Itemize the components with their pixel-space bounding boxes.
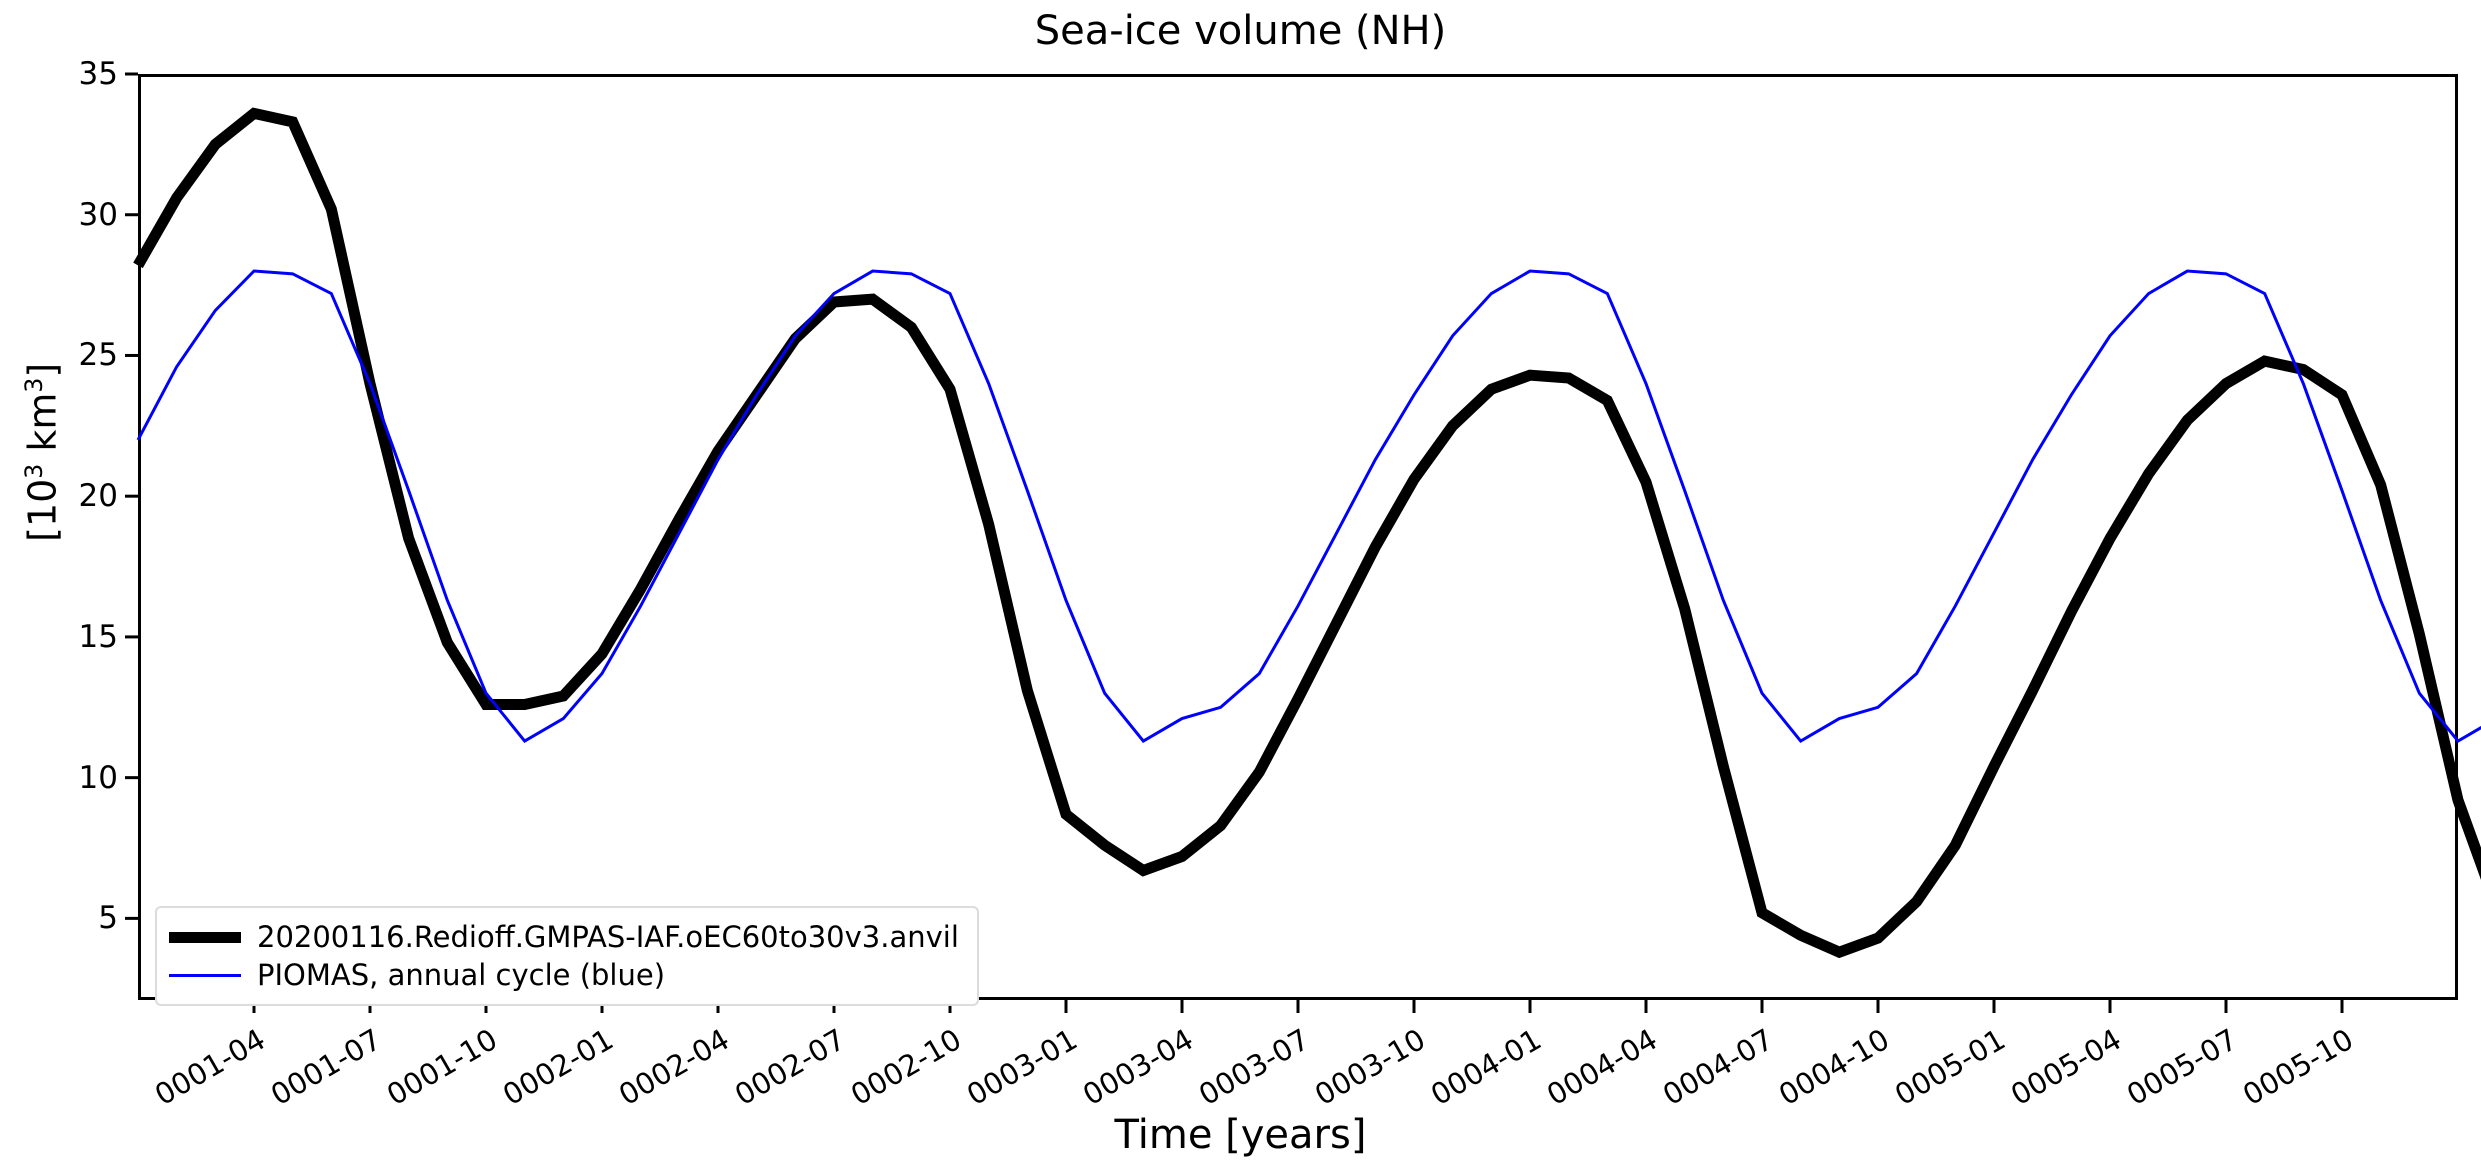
legend-label-piomas: PIOMAS, annual cycle (blue) (257, 958, 665, 992)
figure-canvas: Sea-ice volume (NH) [103 km3] Time [year… (0, 0, 2481, 1174)
legend-item-model[interactable]: 20200116.Redioff.GMPAS-IAF.oEC60to30v3.a… (169, 918, 959, 956)
y-axis-label-text: [103 km3] (20, 363, 64, 542)
y-tick-label: 15 (0, 619, 140, 655)
legend-label-model: 20200116.Redioff.GMPAS-IAF.oEC60to30v3.a… (257, 920, 959, 954)
y-tick-label: 10 (0, 760, 140, 796)
y-tick-label: 35 (0, 56, 140, 92)
plot-area (138, 74, 2458, 1000)
y-tick-label: 25 (0, 337, 140, 373)
legend-swatch-line-icon (169, 974, 241, 977)
y-tick-label: 20 (0, 478, 140, 514)
y-tick-label: 5 (0, 900, 140, 936)
legend-swatch-line-icon (169, 932, 241, 943)
legend: 20200116.Redioff.GMPAS-IAF.oEC60to30v3.a… (155, 906, 979, 1006)
page-title: Sea-ice volume (NH) (0, 8, 2481, 54)
y-tick-label: 30 (0, 197, 140, 233)
legend-item-piomas[interactable]: PIOMAS, annual cycle (blue) (169, 956, 959, 994)
